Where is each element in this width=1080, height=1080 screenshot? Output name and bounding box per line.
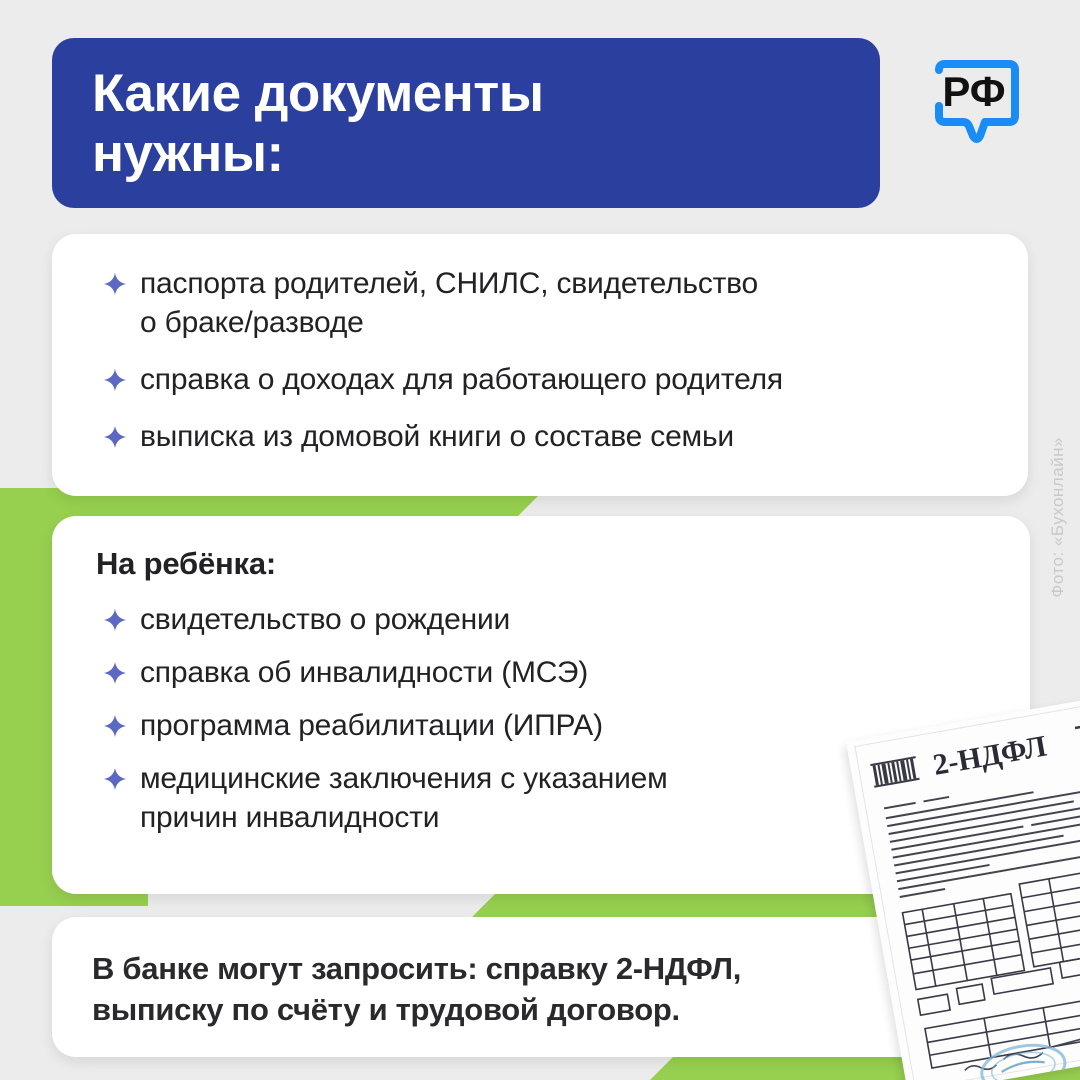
diamond-bullet-icon [104,609,126,631]
infographic-canvas: Какие документы нужны: РФ паспорта родит… [0,0,1080,1080]
list-item-label: выписка из домовой книги о составе семьи [140,417,734,456]
list-item-label: программа реабилитации (ИПРА) [140,706,603,745]
section-heading: На ребёнка: [52,516,1030,586]
list-item-label: паспорта родителей, СНИЛС, свидетельство… [140,264,758,342]
rf-speech-bubble-logo: РФ [925,40,1029,144]
list-item: программа реабилитации (ИПРА) [104,706,986,745]
list-item: паспорта родителей, СНИЛС, свидетельство… [104,264,984,342]
list-item-label: справка об инвалидности (МСЭ) [140,653,588,692]
diamond-bullet-icon [104,369,126,391]
diamond-bullet-icon [104,662,126,684]
bank-note-text: В банке могут запросить: справку 2-НДФЛ,… [52,917,930,1031]
list-item-label: справка о доходах для работающего родите… [140,360,783,399]
diamond-bullet-icon [104,768,126,790]
list-item-label: свидетельство о рождении [140,600,510,639]
diamond-bullet-icon [104,715,126,737]
list-item: выписка из домовой книги о составе семьи [104,417,984,456]
photo-credit: Фото: «Бухонлайн» [1048,437,1068,598]
diamond-bullet-icon [104,273,126,295]
logo-text: РФ [942,68,1005,115]
list-item: справка об инвалидности (МСЭ) [104,653,986,692]
documents-bullet-list: паспорта родителей, СНИЛС, свидетельство… [52,234,1028,456]
header-banner: Какие документы нужны: [52,38,880,208]
list-item: справка о доходах для работающего родите… [104,360,984,399]
diamond-bullet-icon [104,426,126,448]
bank-note-card: В банке могут запросить: справку 2-НДФЛ,… [52,917,930,1057]
list-item: свидетельство о рождении [104,600,986,639]
list-item-label: медицинские заключения с указанием причи… [140,759,668,837]
documents-card: паспорта родителей, СНИЛС, свидетельство… [52,234,1028,496]
page-title: Какие документы нужны: [92,64,840,185]
